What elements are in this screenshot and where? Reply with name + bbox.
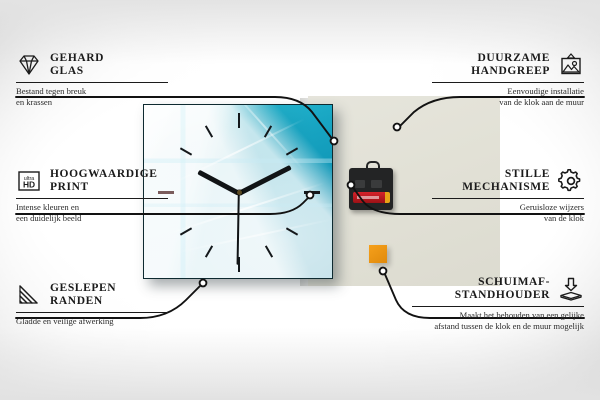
clock-pivot xyxy=(237,190,242,195)
feature-subtitle-line2: afstand tussen de klok en de muur mogeli… xyxy=(412,321,584,331)
feature-divider xyxy=(16,82,168,83)
tick-3 xyxy=(304,191,320,194)
mechanism-slot xyxy=(371,180,382,188)
feature-subtitle-line2: van de klok xyxy=(432,213,584,223)
feature-title: GEHARD GLAS xyxy=(50,52,104,78)
feature-divider xyxy=(412,306,584,307)
feature-subtitle-line1: Intense kleuren en xyxy=(16,202,168,212)
feature-subtitle-line2: van de klok aan de muur xyxy=(432,97,584,107)
feature-header: STILLE MECHANISME xyxy=(432,168,584,194)
wall-clock xyxy=(143,104,333,279)
gear-icon xyxy=(558,169,584,193)
feature-subtitle-line1: Gladde en veilige afwerking xyxy=(16,316,168,326)
feature-subtitle-line2: en krassen xyxy=(16,97,168,107)
picture-frame-icon xyxy=(558,53,584,77)
feature-divider xyxy=(16,312,168,313)
feature-subtitle-line1: Geruisloze wijzers xyxy=(432,202,584,212)
feature-title: SCHUIMAF- STANDHOUDER xyxy=(455,276,550,302)
feature-title: DUURZAME HANDGREEP xyxy=(471,52,550,78)
feature-duurzame-handgreep: DUURZAME HANDGREEP Eenvoudige installati… xyxy=(432,52,584,107)
feature-header: ultra HD HOOGWAARDIGE PRINT xyxy=(16,168,168,194)
feature-divider xyxy=(432,198,584,199)
feature-subtitle-line1: Eenvoudige installatie xyxy=(432,86,584,96)
feature-header: GEHARD GLAS xyxy=(16,52,168,78)
feature-hoogwaardige-print: ultra HD HOOGWAARDIGE PRINT Intense kleu… xyxy=(16,168,168,223)
battery-terminal xyxy=(385,192,390,203)
feature-header: GESLEPEN RANDEN xyxy=(16,282,168,308)
feature-subtitle-line1: Maakt het behouden van een gelijke xyxy=(412,310,584,320)
stamp-down-icon xyxy=(558,277,584,301)
infographic-canvas: GEHARD GLAS Bestand tegen breuk en krass… xyxy=(0,0,600,400)
feature-geslepen-randen: GESLEPEN RANDEN Gladde en veilige afwerk… xyxy=(16,282,168,327)
feature-divider xyxy=(432,82,584,83)
foam-spacer-pad xyxy=(369,245,387,263)
mechanism-slot xyxy=(355,180,365,188)
feature-header: SCHUIMAF- STANDHOUDER xyxy=(412,276,584,302)
tick-12 xyxy=(238,113,240,128)
feature-title: HOOGWAARDIGE PRINT xyxy=(50,168,158,194)
feature-header: DUURZAME HANDGREEP xyxy=(432,52,584,78)
feature-subtitle-line1: Bestand tegen breuk xyxy=(16,86,168,96)
clock-mechanism xyxy=(349,168,393,210)
diamond-icon xyxy=(16,53,42,77)
feature-gehard-glas: GEHARD GLAS Bestand tegen breuk en krass… xyxy=(16,52,168,107)
feature-divider xyxy=(16,198,168,199)
feature-title: STILLE MECHANISME xyxy=(462,168,550,194)
battery-label xyxy=(357,196,379,199)
feature-stille-mechanisme: STILLE MECHANISME Geruisloze wijzers van… xyxy=(432,168,584,223)
feature-title: GESLEPEN RANDEN xyxy=(50,282,116,308)
ultra-hd-icon: ultra HD xyxy=(16,169,42,193)
svg-text:HD: HD xyxy=(23,180,35,190)
feature-schuimaf-standhouder: SCHUIMAF- STANDHOUDER Maakt het behouden… xyxy=(412,276,584,331)
feature-subtitle-line2: een duidelijk beeld xyxy=(16,213,168,223)
mechanism-body xyxy=(349,168,393,210)
beveled-edge-icon xyxy=(16,283,42,307)
